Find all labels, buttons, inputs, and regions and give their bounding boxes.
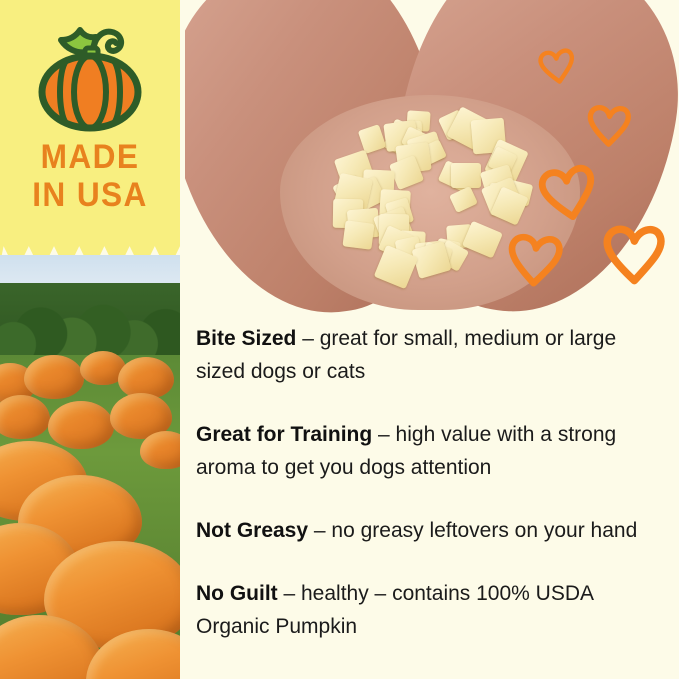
feature-item: Bite Sized – great for small, medium or …	[196, 322, 666, 388]
pumpkin-icon	[32, 22, 148, 134]
badge-line-2: IN USA	[6, 176, 173, 214]
patch-pumpkin	[24, 355, 84, 399]
feature-text: – no greasy leftovers on your hand	[308, 519, 637, 542]
feature-list: Bite Sized – great for small, medium or …	[196, 322, 666, 673]
product-infographic: MADE IN USA	[0, 0, 679, 679]
feature-item: Not Greasy – no greasy leftovers on your…	[196, 514, 666, 547]
treat-cube	[451, 163, 481, 188]
hero-photo	[185, 0, 679, 318]
heart-5-icon	[599, 217, 669, 287]
feature-item: No Guilt – healthy – contains 100% USDA …	[196, 577, 666, 643]
pumpkin-patch-photo	[0, 255, 180, 679]
tree-line	[0, 283, 180, 365]
feature-lead: Not Greasy	[196, 519, 308, 542]
feature-item: Great for Training – high value with a s…	[196, 418, 666, 484]
main-column: Bite Sized – great for small, medium or …	[185, 0, 679, 679]
badge-line-1: MADE	[6, 138, 173, 176]
feature-lead: No Guilt	[196, 582, 278, 605]
left-column: MADE IN USA	[0, 0, 180, 679]
patch-pumpkin	[140, 431, 180, 469]
treat-cube	[342, 220, 374, 249]
heart-4-icon	[502, 225, 568, 291]
heart-3-icon	[533, 156, 603, 226]
patch-pumpkin	[48, 401, 114, 449]
heart-2-icon	[583, 98, 634, 149]
feature-lead: Bite Sized	[196, 327, 296, 350]
feature-lead: Great for Training	[196, 423, 372, 446]
badge-text: MADE IN USA	[6, 138, 173, 214]
heart-1-icon	[535, 43, 579, 87]
made-in-usa-badge: MADE IN USA	[0, 0, 180, 272]
